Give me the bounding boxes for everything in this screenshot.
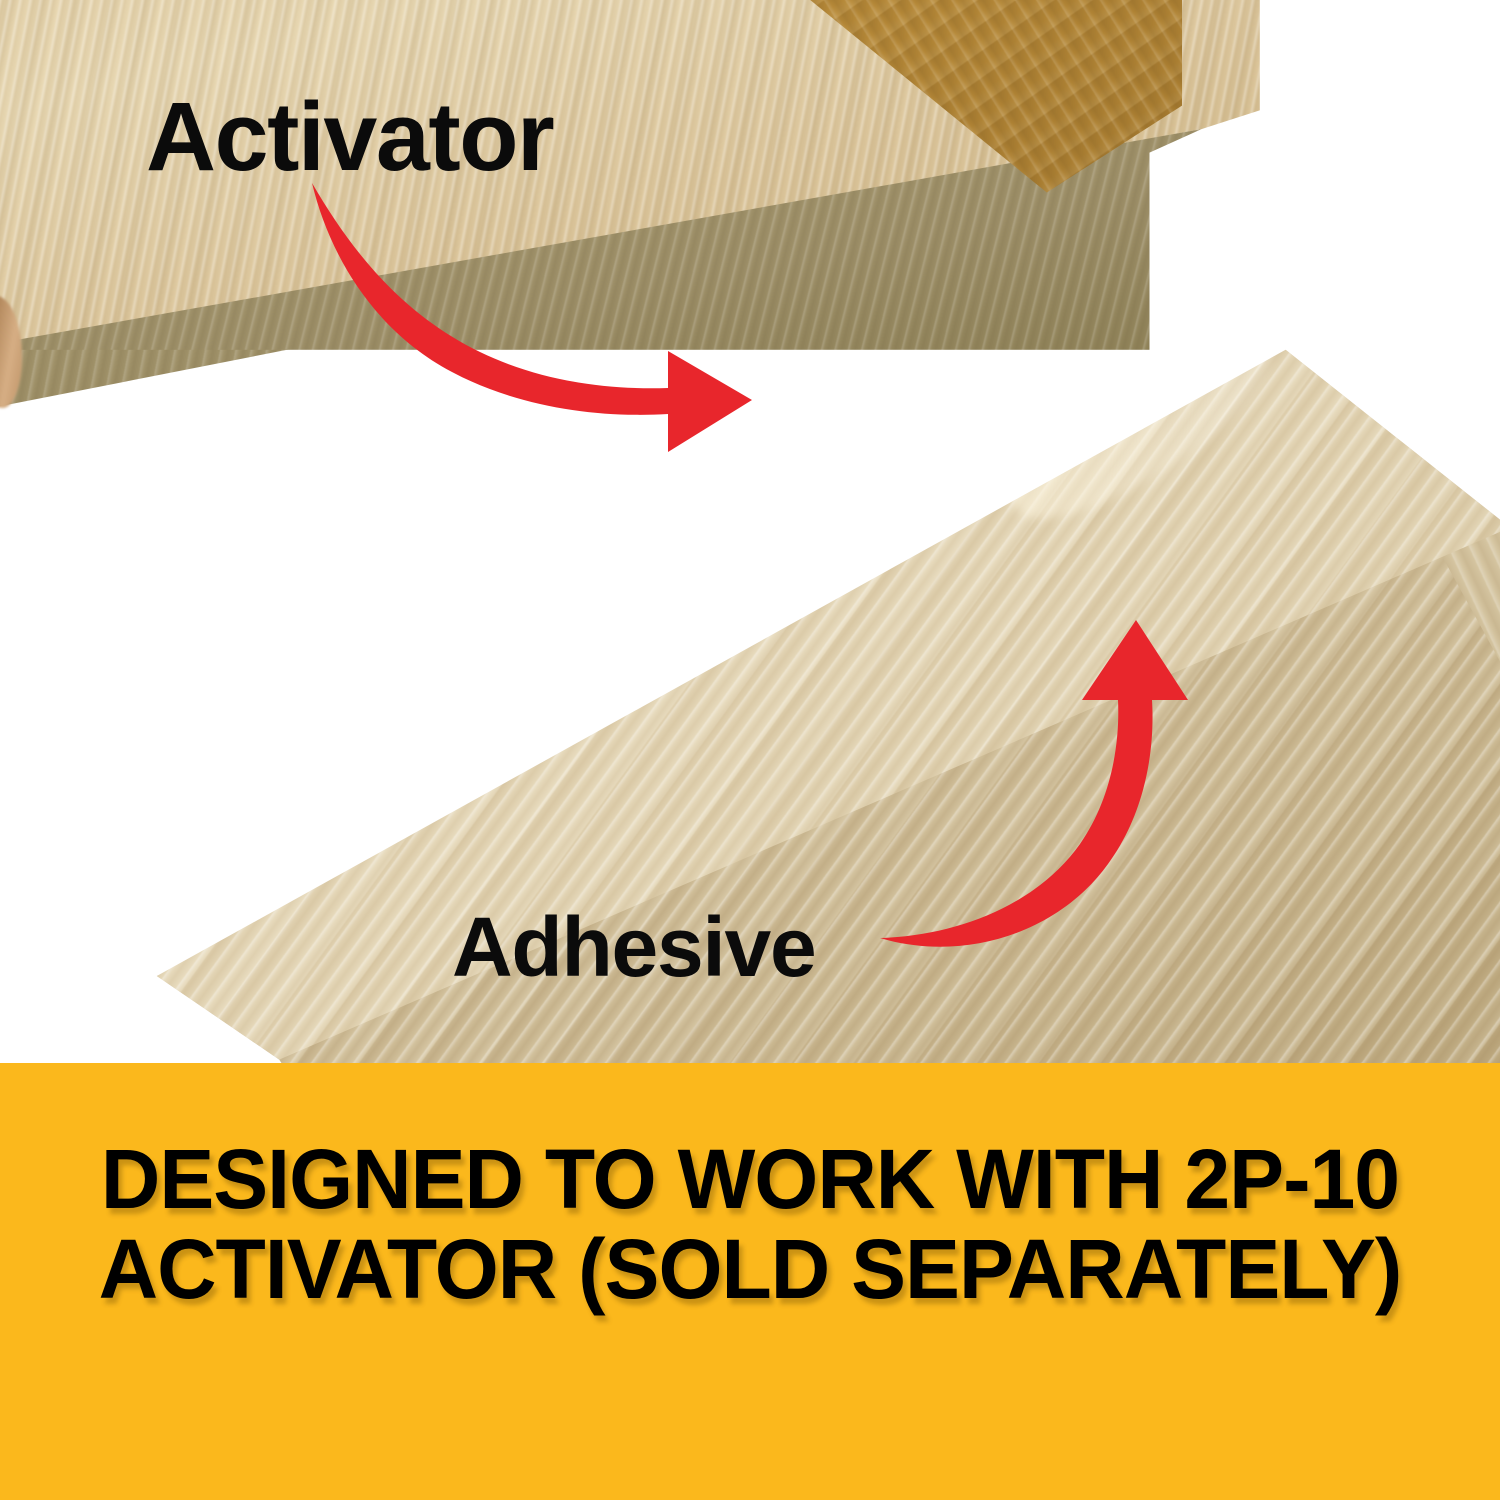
banner-headline: DESIGNED TO WORK WITH 2P-10 ACTIVATOR (S… [15, 1135, 1485, 1315]
bottom-banner: DESIGNED TO WORK WITH 2P-10 ACTIVATOR (S… [0, 1063, 1500, 1500]
lower-wood-board [150, 330, 1500, 1090]
adhesive-label: Adhesive [452, 905, 815, 989]
activator-label: Activator [146, 88, 553, 185]
banner-line-2: ACTIVATOR (SOLD SEPARATELY) [15, 1225, 1485, 1315]
infographic-canvas: Activator Adhesive DESIGNED TO WORK WITH… [0, 0, 1500, 1500]
banner-line-1: DESIGNED TO WORK WITH 2P-10 [15, 1135, 1485, 1225]
